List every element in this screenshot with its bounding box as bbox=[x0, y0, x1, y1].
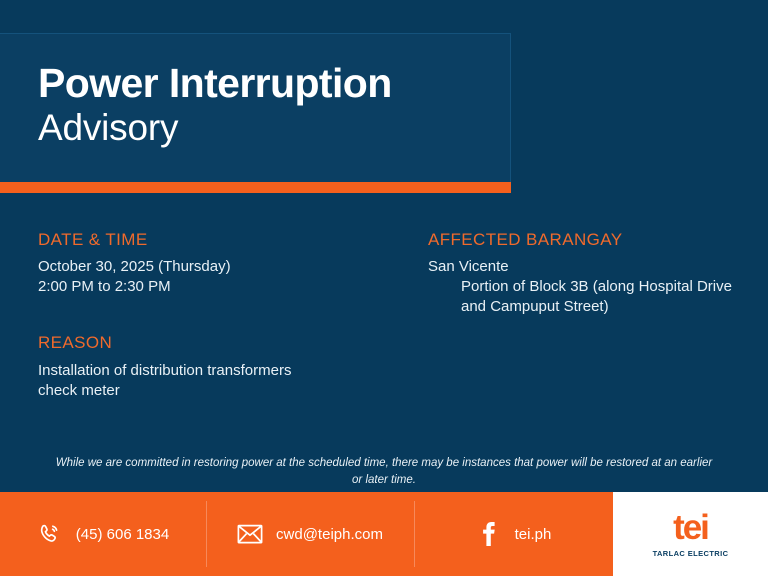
reason-block: REASON Installation of distribution tran… bbox=[38, 333, 418, 400]
date-time-heading: DATE & TIME bbox=[38, 230, 418, 250]
footer-email[interactable]: cwd@teiph.com bbox=[206, 492, 414, 576]
date-time-value: October 30, 2025 (Thursday) 2:00 PM to 2… bbox=[38, 257, 418, 297]
footer-facebook[interactable]: tei.ph bbox=[414, 492, 613, 576]
email-address: cwd@teiph.com bbox=[276, 526, 383, 543]
title-sub: Advisory bbox=[38, 107, 392, 148]
left-column: DATE & TIME October 30, 2025 (Thursday) … bbox=[38, 230, 418, 401]
phone-icon bbox=[37, 521, 63, 547]
accent-bar bbox=[0, 182, 511, 193]
barangay-name: San Vicente bbox=[428, 257, 768, 277]
phone-number: (45) 606 1834 bbox=[76, 526, 169, 543]
footer-bar: (45) 606 1834 cwd@teiph.com tei.ph tei T… bbox=[0, 492, 768, 576]
logo-wordmark: tei bbox=[673, 510, 708, 545]
company-logo: tei TARLAC ELECTRIC bbox=[613, 492, 768, 576]
disclaimer-text: While we are committed in restoring powe… bbox=[50, 455, 718, 488]
date-time-block: DATE & TIME October 30, 2025 (Thursday) … bbox=[38, 230, 418, 297]
reason-value: Installation of distribution transformer… bbox=[38, 361, 418, 401]
footer-phone[interactable]: (45) 606 1834 bbox=[0, 492, 206, 576]
right-column: AFFECTED BARANGAY San Vicente Portion of… bbox=[428, 230, 768, 317]
envelope-icon bbox=[237, 521, 263, 547]
affected-barangay-block: AFFECTED BARANGAY San Vicente Portion of… bbox=[428, 230, 768, 317]
logo-caption: TARLAC ELECTRIC bbox=[653, 549, 729, 558]
affected-barangay-heading: AFFECTED BARANGAY bbox=[428, 230, 768, 250]
title-main: Power Interruption bbox=[38, 62, 392, 105]
barangay-detail: Portion of Block 3B (along Hospital Driv… bbox=[461, 277, 768, 317]
facebook-handle: tei.ph bbox=[515, 526, 552, 543]
footer-divider-2 bbox=[414, 501, 415, 567]
facebook-icon bbox=[476, 521, 502, 547]
reason-heading: REASON bbox=[38, 333, 418, 353]
page-title: Power Interruption Advisory bbox=[38, 62, 392, 149]
footer-divider-1 bbox=[206, 501, 207, 567]
header-panel: Power Interruption Advisory bbox=[0, 33, 511, 183]
